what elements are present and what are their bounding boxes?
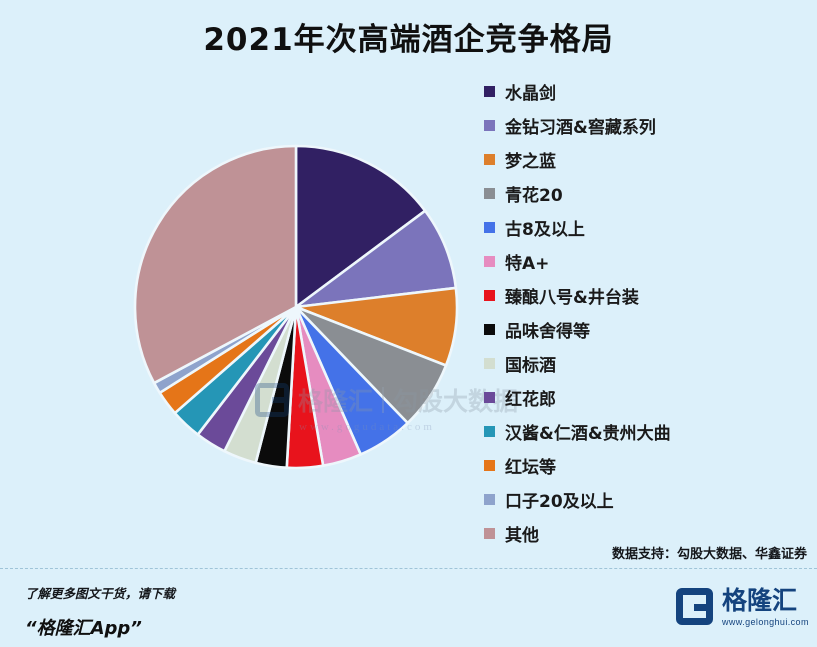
brand-url: www.gelonghui.com bbox=[722, 617, 809, 627]
legend-label: 古8及以上 bbox=[505, 215, 585, 240]
footer-promo: 了解更多图文干货，请下载 “格隆汇App” bbox=[25, 583, 175, 640]
legend-swatch-icon bbox=[484, 256, 495, 267]
legend-swatch-icon bbox=[484, 86, 495, 97]
legend-swatch-icon bbox=[484, 222, 495, 233]
legend-label: 其他 bbox=[505, 521, 539, 546]
chart-legend: 水晶剑金钻习酒&窖藏系列梦之蓝青花20古8及以上特A+臻酿八号&井台装品味舍得等… bbox=[484, 74, 814, 550]
footer-line-1: 了解更多图文干货，请下载 bbox=[25, 583, 175, 602]
legend-item[interactable]: 品味舍得等 bbox=[484, 312, 814, 346]
legend-item[interactable]: 水晶剑 bbox=[484, 74, 814, 108]
legend-item[interactable]: 青花20 bbox=[484, 176, 814, 210]
legend-label: 汉酱&仁酒&贵州大曲 bbox=[505, 419, 671, 444]
legend-item[interactable]: 金钻习酒&窖藏系列 bbox=[484, 108, 814, 142]
brand-name: 格隆汇 bbox=[722, 588, 809, 613]
legend-item[interactable]: 梦之蓝 bbox=[484, 142, 814, 176]
pie-chart-svg bbox=[0, 0, 480, 560]
legend-swatch-icon bbox=[484, 324, 495, 335]
footer-divider bbox=[0, 568, 817, 569]
legend-item[interactable]: 臻酿八号&井台装 bbox=[484, 278, 814, 312]
legend-item[interactable]: 红花郎 bbox=[484, 380, 814, 414]
legend-label: 青花20 bbox=[505, 181, 563, 206]
legend-label: 国标酒 bbox=[505, 351, 556, 376]
legend-label: 口子20及以上 bbox=[505, 487, 614, 512]
legend-swatch-icon bbox=[484, 154, 495, 165]
legend-swatch-icon bbox=[484, 460, 495, 471]
legend-item[interactable]: 古8及以上 bbox=[484, 210, 814, 244]
legend-label: 特A+ bbox=[505, 249, 549, 274]
legend-item[interactable]: 国标酒 bbox=[484, 346, 814, 380]
legend-label: 梦之蓝 bbox=[505, 147, 556, 172]
gelonghui-logo-icon bbox=[676, 588, 713, 625]
legend-swatch-icon bbox=[484, 426, 495, 437]
pie-chart bbox=[0, 0, 480, 560]
legend-label: 红花郎 bbox=[505, 385, 556, 410]
legend-swatch-icon bbox=[484, 528, 495, 539]
gelonghui-brand: 格隆汇 www.gelonghui.com bbox=[676, 588, 809, 627]
legend-label: 水晶剑 bbox=[505, 79, 556, 104]
legend-label: 金钻习酒&窖藏系列 bbox=[505, 113, 656, 138]
legend-swatch-icon bbox=[484, 392, 495, 403]
legend-item[interactable]: 汉酱&仁酒&贵州大曲 bbox=[484, 414, 814, 448]
legend-item[interactable]: 口子20及以上 bbox=[484, 482, 814, 516]
legend-swatch-icon bbox=[484, 290, 495, 301]
footer-line-2: “格隆汇App” bbox=[25, 614, 175, 640]
chart-page: 2021年次高端酒企竞争格局 格隆汇 勾股大数据 www.gogudata.co… bbox=[0, 0, 817, 647]
legend-swatch-icon bbox=[484, 494, 495, 505]
legend-item[interactable]: 特A+ bbox=[484, 244, 814, 278]
legend-swatch-icon bbox=[484, 188, 495, 199]
legend-item[interactable]: 红坛等 bbox=[484, 448, 814, 482]
legend-swatch-icon bbox=[484, 358, 495, 369]
legend-swatch-icon bbox=[484, 120, 495, 131]
legend-label: 红坛等 bbox=[505, 453, 556, 478]
legend-label: 品味舍得等 bbox=[505, 317, 590, 342]
legend-label: 臻酿八号&井台装 bbox=[505, 283, 639, 308]
data-source-note: 数据支持：勾股大数据、华鑫证券 bbox=[612, 543, 807, 562]
